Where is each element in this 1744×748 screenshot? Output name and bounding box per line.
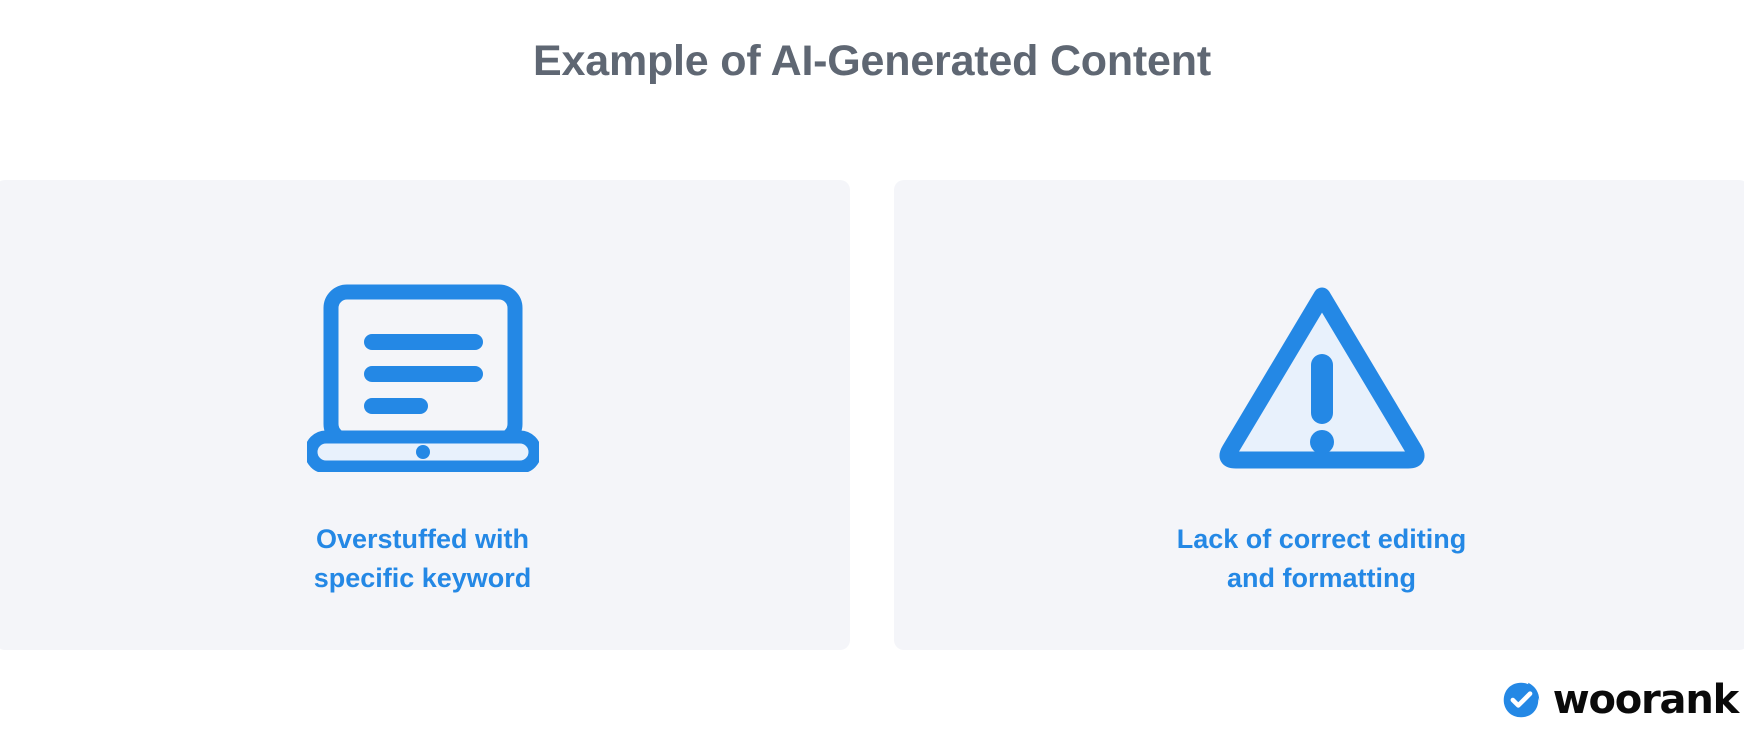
card-label-lack-of-editing: Lack of correct editing and formatting xyxy=(1177,520,1467,598)
card-overstuffed-keyword: Overstuffed with specific keyword xyxy=(0,180,850,650)
card-label-overstuffed-keyword: Overstuffed with specific keyword xyxy=(314,520,532,598)
page-title: Example of AI-Generated Content xyxy=(533,38,1211,85)
card-icon-container xyxy=(307,262,539,492)
card-lack-of-editing: Lack of correct editing and formatting xyxy=(894,180,1744,650)
woorank-wordmark: woorank xyxy=(1553,680,1738,720)
infographic-page: Example of AI-Generated Content Ov xyxy=(0,0,1744,748)
card-icon-container xyxy=(1212,262,1432,492)
cards-row: Overstuffed with specific keyword Lack o… xyxy=(0,180,1744,650)
woorank-logo[interactable]: woorank xyxy=(1501,680,1738,720)
woorank-check-leaf-icon xyxy=(1501,680,1541,720)
warning-triangle-icon xyxy=(1212,282,1432,472)
laptop-document-icon xyxy=(307,282,539,472)
title-container: Example of AI-Generated Content xyxy=(0,0,1744,85)
